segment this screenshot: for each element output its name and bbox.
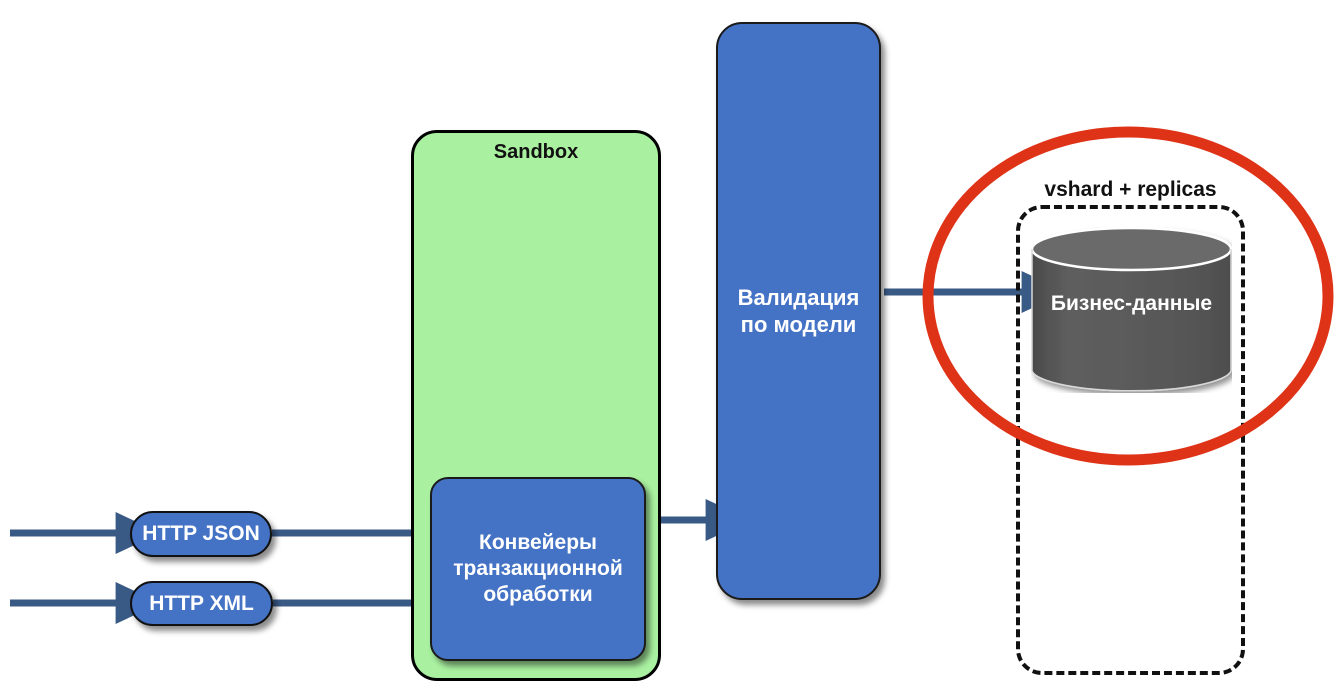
diagram-canvas: Sandbox Конвейеры транзакционной обработ… xyxy=(0,0,1338,681)
pipelines-line-3: обработки xyxy=(453,582,623,608)
validation-line-1: Валидация xyxy=(738,284,860,312)
pipelines-node[interactable]: Конвейеры транзакционной обработки xyxy=(430,477,646,661)
input-http-xml-label: HTTP XML xyxy=(149,592,254,616)
input-http-json-label: HTTP JSON xyxy=(142,522,259,546)
pipelines-line-1: Конвейеры xyxy=(453,530,623,556)
input-http-xml[interactable]: HTTP XML xyxy=(130,581,273,626)
sandbox-label: Sandbox xyxy=(414,141,658,164)
validation-line-2: по модели xyxy=(738,311,860,339)
pipelines-line-2: транзакционной xyxy=(453,556,623,582)
red-ellipse-highlight-icon xyxy=(922,125,1334,467)
input-http-json[interactable]: HTTP JSON xyxy=(130,511,272,557)
validation-node[interactable]: Валидация по модели xyxy=(716,22,881,600)
